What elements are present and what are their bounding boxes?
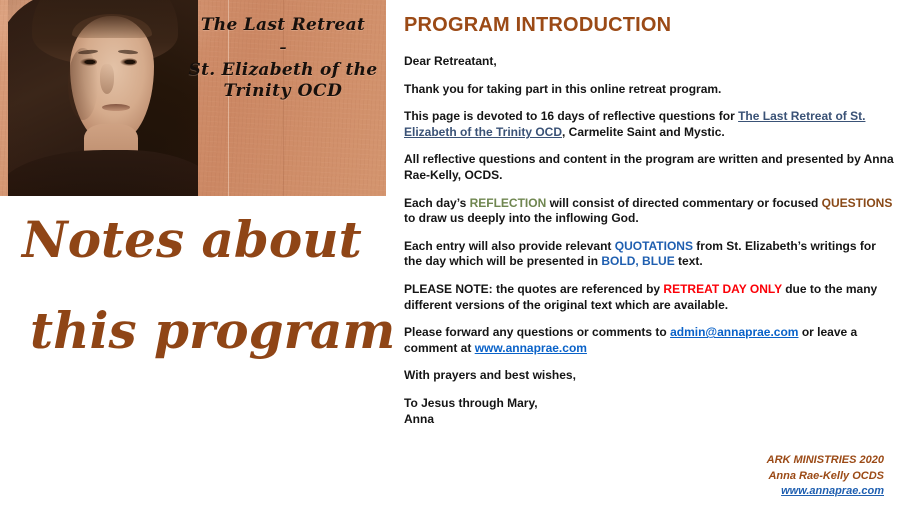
signoff-line-2: Anna <box>404 412 434 426</box>
text-before-link: This page is devoted to 16 days of refle… <box>404 109 738 123</box>
notes-about-program-heading: Notes about this program <box>22 214 386 357</box>
contact-text-1: Please forward any questions or comments… <box>404 325 670 339</box>
keyword-reflection: REFLECTION <box>470 196 547 210</box>
banner-title: The Last Retreat – St. Elizabeth of the … <box>188 16 378 101</box>
photo-vignette <box>8 0 198 196</box>
keyword-questions: QUESTIONS <box>822 196 893 210</box>
email-link[interactable]: admin@annaprae.com <box>670 325 798 339</box>
introduction-content: PROGRAM INTRODUCTION Dear Retreatant, Th… <box>404 0 896 512</box>
reflection-text-2: will consist of directed commentary or f… <box>546 196 821 210</box>
left-column: The Last Retreat – St. Elizabeth of the … <box>0 0 386 512</box>
paragraph-contact: Please forward any questions or comments… <box>404 325 896 356</box>
reflection-text-3: to draw us deeply into the inflowing God… <box>404 211 639 225</box>
paragraph-please-note: PLEASE NOTE: the quotes are referenced b… <box>404 282 896 313</box>
banner-title-dash: – <box>188 41 378 57</box>
paragraph-reflection: Each day’s REFLECTION will consist of di… <box>404 196 896 227</box>
keyword-bold-blue: BOLD, BLUE <box>601 254 674 268</box>
quotations-text-1: Each entry will also provide relevant <box>404 239 615 253</box>
keyword-retreat-day-only: RETREAT DAY ONLY <box>663 282 781 296</box>
salutation: Dear Retreatant, <box>404 54 896 70</box>
notes-heading-line-2: this program <box>30 305 386 358</box>
please-note-text-1: PLEASE NOTE: the quotes are referenced b… <box>404 282 663 296</box>
paragraph-thanks: Thank you for taking part in this online… <box>404 82 896 98</box>
paragraph-signoff: To Jesus through Mary, Anna <box>404 396 896 427</box>
page-root: The Last Retreat – St. Elizabeth of the … <box>0 0 908 512</box>
banner-title-line-3: Trinity OCD <box>188 82 378 101</box>
signature-website-link[interactable]: www.annaprae.com <box>781 485 884 497</box>
paragraph-authorship: All reflective questions and content in … <box>404 152 896 183</box>
paragraph-closing-wishes: With prayers and best wishes, <box>404 368 896 384</box>
retreat-banner-image: The Last Retreat – St. Elizabeth of the … <box>0 0 386 196</box>
signature-author: Anna Rae-Kelly OCDS <box>767 469 884 485</box>
saint-portrait-image <box>8 0 198 196</box>
page-title: PROGRAM INTRODUCTION <box>404 14 896 37</box>
signature-ministry: ARK MINISTRIES 2020 <box>767 453 884 469</box>
paragraph-quotations: Each entry will also provide relevant QU… <box>404 239 896 270</box>
paragraph-devoted: This page is devoted to 16 days of refle… <box>404 109 896 140</box>
signoff-line-1: To Jesus through Mary, <box>404 396 538 410</box>
banner-title-line-2: St. Elizabeth of the <box>188 61 378 80</box>
text-after-link: , Carmelite Saint and Mystic. <box>562 125 725 139</box>
banner-title-line-1: The Last Retreat <box>188 16 378 35</box>
website-link[interactable]: www.annaprae.com <box>475 341 587 355</box>
notes-heading-line-1: Notes about <box>22 214 386 267</box>
keyword-quotations: QUOTATIONS <box>615 239 693 253</box>
ministry-signature-block: ARK MINISTRIES 2020 Anna Rae-Kelly OCDS … <box>767 453 884 500</box>
quotations-text-3: text. <box>675 254 703 268</box>
reflection-text-1: Each day’s <box>404 196 470 210</box>
